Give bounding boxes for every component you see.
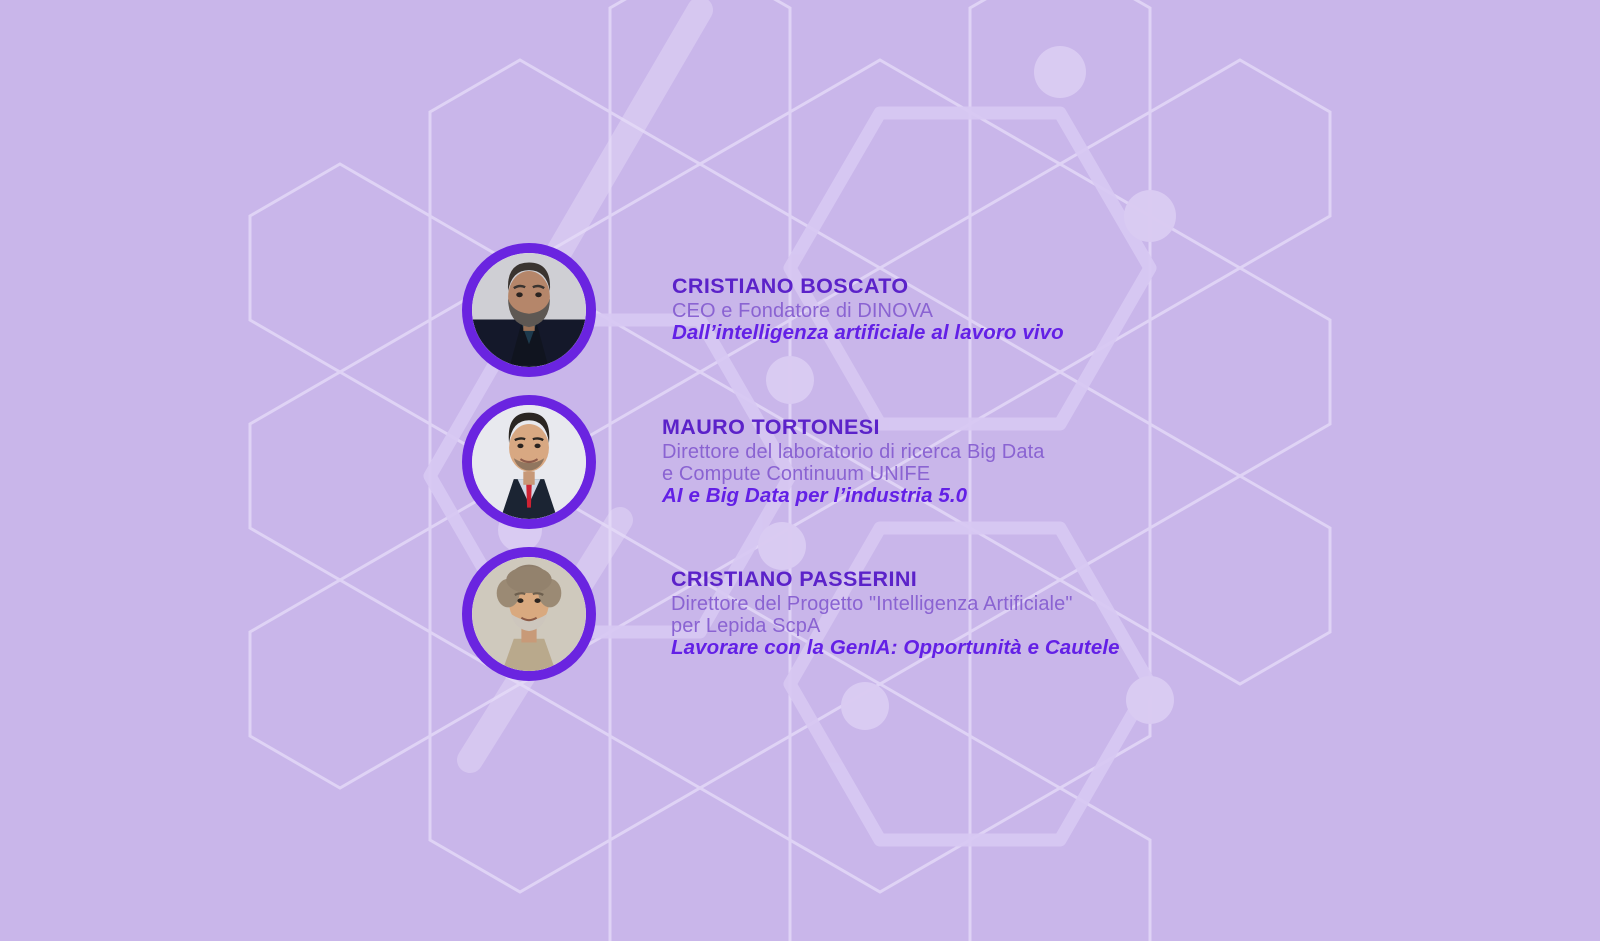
speaker-photo-cristiano-boscato bbox=[472, 253, 586, 367]
speaker-row: CRISTIANO BOSCATO CEO e Fondatore di DIN… bbox=[462, 243, 1064, 377]
logo-bar: F.In.D. FERRARA INNOVATION & DIGITAL COM… bbox=[0, 821, 1600, 941]
speaker-list: CRISTIANO BOSCATO CEO e Fondatore di DIN… bbox=[0, 0, 1600, 941]
speaker-talk-title: Lavorare con la GenIA: Opportunità e Cau… bbox=[671, 638, 1120, 659]
speaker-row: MAURO TORTONESI Direttore del laboratori… bbox=[462, 395, 1044, 529]
speaker-role-line1: CEO e Fondatore di DINOVA bbox=[672, 300, 1064, 322]
speaker-role-line2: per Lepida ScpA bbox=[671, 615, 1120, 637]
speaker-name: CRISTIANO BOSCATO bbox=[672, 276, 1064, 298]
speaker-text: CRISTIANO BOSCATO CEO e Fondatore di DIN… bbox=[672, 276, 1064, 343]
avatar bbox=[462, 243, 596, 377]
avatar bbox=[462, 547, 596, 681]
speaker-name: CRISTIANO PASSERINI bbox=[671, 569, 1120, 591]
speaker-text: CRISTIANO PASSERINI Direttore del Proget… bbox=[671, 569, 1120, 659]
speaker-name: MAURO TORTONESI bbox=[662, 417, 1044, 439]
slide-root: CRISTIANO BOSCATO CEO e Fondatore di DIN… bbox=[0, 0, 1600, 941]
speaker-role-line1: Direttore del laboratorio di ricerca Big… bbox=[662, 441, 1044, 463]
speaker-photo-mauro-tortonesi bbox=[472, 405, 586, 519]
speaker-text: MAURO TORTONESI Direttore del laboratori… bbox=[662, 417, 1044, 507]
speaker-role-line2: e Compute Continuum UNIFE bbox=[662, 463, 1044, 485]
speaker-role-line1: Direttore del Progetto "Intelligenza Art… bbox=[671, 593, 1120, 615]
speaker-talk-title: Dall’intelligenza artificiale al lavoro … bbox=[672, 323, 1064, 344]
speaker-row: CRISTIANO PASSERINI Direttore del Proget… bbox=[462, 547, 1120, 681]
speaker-talk-title: AI e Big Data per l’industria 5.0 bbox=[662, 486, 1044, 507]
speaker-photo-cristiano-passerini bbox=[472, 557, 586, 671]
avatar bbox=[462, 395, 596, 529]
